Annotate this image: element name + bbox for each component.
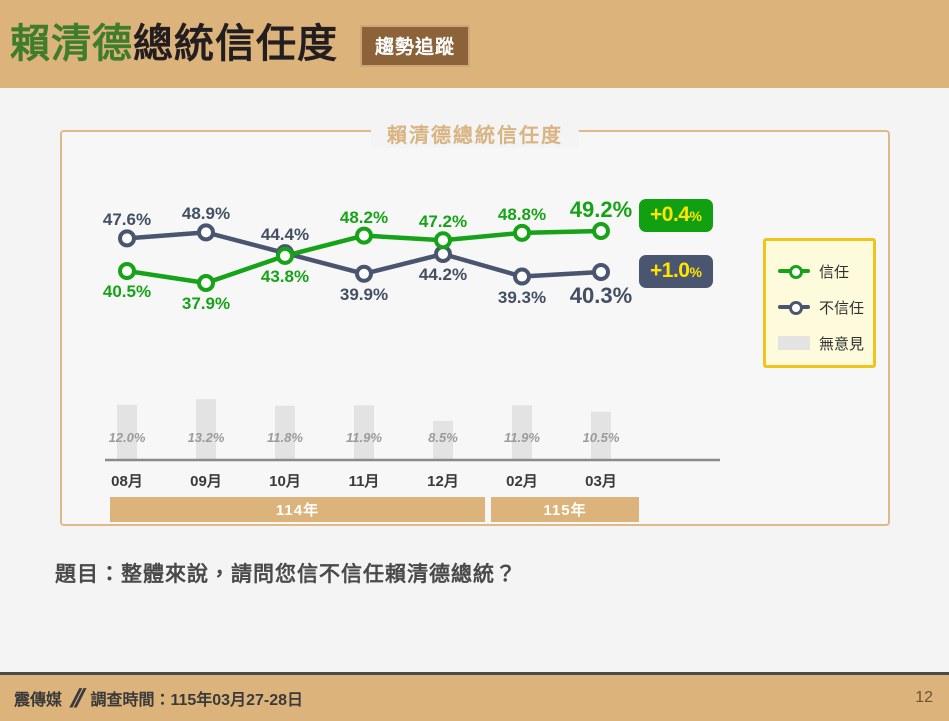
x-axis-label-08月: 08月 (111, 470, 143, 491)
year-band-115: 115年 (491, 497, 639, 522)
page-header: 賴清德總統信任度 趨勢追蹤 (0, 0, 949, 88)
bar-label-noopinion-12月: 8.5% (428, 430, 458, 445)
legend-label-noopinion: 無意見 (819, 333, 864, 354)
data-label-distrust-10月: 44.4% (261, 225, 309, 245)
trend-tracking-tag: 趨勢追蹤 (360, 25, 470, 67)
year-band-114: 114年 (110, 497, 485, 522)
legend-label-distrust: 不信任 (819, 297, 864, 318)
page-title-dark: 總統信任度 (133, 22, 338, 66)
data-label-trust-11月: 48.2% (340, 208, 388, 228)
page-title: 賴清德總統信任度 (10, 24, 338, 64)
bar-label-noopinion-03月: 10.5% (583, 430, 620, 445)
x-axis-label-02月: 02月 (506, 470, 538, 491)
footer-page-number: 12 (915, 689, 933, 707)
data-label-trust-12月: 47.2% (419, 212, 467, 232)
change-badge-trust: +0.4% (639, 199, 713, 232)
data-label-distrust-09月: 48.9% (182, 204, 230, 224)
data-label-distrust-02月: 39.3% (498, 288, 546, 308)
legend-line-marker-icon-distrust (778, 300, 810, 314)
data-label-distrust-08月: 47.6% (103, 210, 151, 230)
survey-question: 題目：整體來說，請問您信不信任賴清德總統？ (55, 558, 517, 588)
data-label-distrust-03月: 40.3% (570, 283, 632, 309)
data-label-distrust-12月: 44.2% (419, 265, 467, 285)
bar-label-noopinion-11月: 11.9% (346, 430, 382, 445)
change-badge-distrust-value: +1.0 (650, 259, 689, 283)
change-badge-trust-pct: % (689, 208, 701, 224)
data-label-trust-02月: 48.8% (498, 205, 546, 225)
legend-item-trust: 信任 (778, 253, 873, 289)
change-badge-distrust: +1.0% (639, 255, 713, 288)
bar-label-noopinion-08月: 12.0% (109, 430, 146, 445)
x-axis-label-11月: 11月 (349, 470, 380, 491)
x-axis-label-09月: 09月 (190, 470, 222, 491)
change-badge-distrust-pct: % (689, 264, 701, 280)
footer-survey-time: 調查時間：115年03月27-28日 (90, 686, 303, 710)
legend-bar-swatch-icon-noopinion (778, 336, 810, 350)
x-axis-label-12月: 12月 (427, 470, 459, 491)
page-footer: 震傳媒 // 調查時間：115年03月27-28日 12 (0, 675, 949, 721)
x-axis-label-10月: 10月 (269, 470, 301, 491)
legend-line-marker-icon-trust (778, 264, 810, 278)
bar-label-noopinion-09月: 13.2% (188, 430, 225, 445)
footer-slash-icon: // (67, 683, 86, 714)
data-label-trust-10月: 43.8% (261, 267, 309, 287)
data-label-trust-03月: 49.2% (570, 197, 632, 223)
change-badge-trust-value: +0.4 (650, 203, 689, 227)
chart-legend: 信任 不信任 無意見 (763, 238, 876, 368)
bar-label-noopinion-02月: 11.9% (504, 430, 540, 445)
footer-brand: 震傳媒 (14, 686, 62, 710)
x-axis-label-03月: 03月 (585, 470, 617, 491)
legend-item-noopinion: 無意見 (778, 325, 873, 361)
legend-label-trust: 信任 (819, 261, 849, 282)
legend-item-distrust: 不信任 (778, 289, 873, 325)
data-label-trust-08月: 40.5% (103, 282, 151, 302)
bar-label-noopinion-10月: 11.8% (267, 430, 303, 445)
data-label-distrust-11月: 39.9% (340, 285, 388, 305)
data-label-trust-09月: 37.9% (182, 294, 230, 314)
page-title-green: 賴清德 (10, 22, 133, 66)
